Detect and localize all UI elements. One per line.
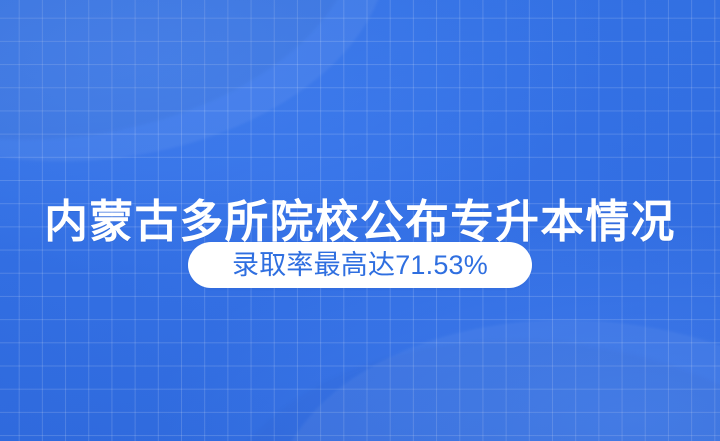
promo-banner: 内蒙古多所院校公布专升本情况 录取率最高达71.53% — [0, 0, 720, 441]
subtitle-pill-label: 录取率最高达71.53% — [232, 250, 488, 280]
banner-content: 内蒙古多所院校公布专升本情况 录取率最高达71.53% — [0, 0, 720, 441]
banner-headline: 内蒙古多所院校公布专升本情况 — [11, 196, 709, 248]
subtitle-pill: 录取率最高达71.53% — [188, 242, 532, 288]
